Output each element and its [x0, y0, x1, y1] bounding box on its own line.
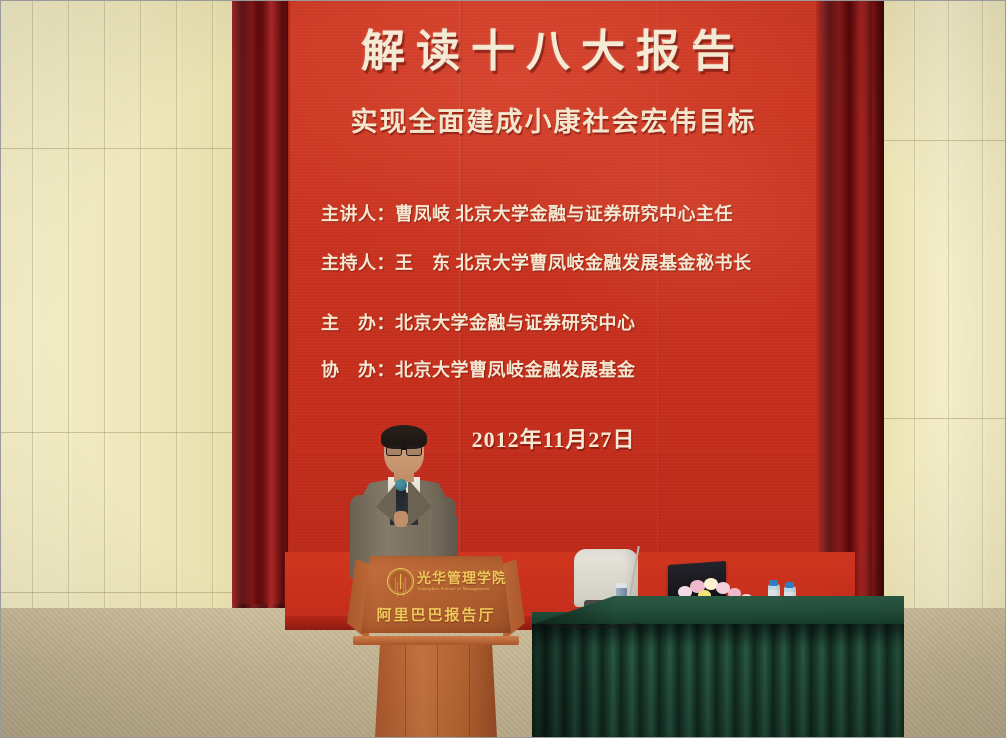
podium-school-name-cn: 光华管理学院: [417, 568, 507, 588]
water-bottle-cap: [785, 582, 794, 588]
banner-subtitle: 实现全面建成小康社会宏伟目标: [285, 100, 822, 139]
lectern-podium: 光华管理学院 Guanghua School of Management 阿里巴…: [347, 553, 525, 738]
microphone-head: [395, 479, 407, 491]
banner-title: 解读十八大报告: [285, 15, 822, 79]
water-bottle-cap: [769, 580, 778, 586]
table-skirt: [532, 624, 904, 738]
podium-hall-name: 阿里巴巴报告厅: [361, 604, 511, 625]
banner-line-coorganizer: 协 办：北京大学曹凤岐金融发展基金: [321, 356, 636, 382]
podium-front-panel: 光华管理学院 Guanghua School of Management 阿里巴…: [361, 556, 511, 633]
eyeglasses-icon: [386, 445, 422, 454]
podium-school-name-en: Guanghua School of Management: [418, 586, 490, 591]
thermos-cap: [616, 583, 627, 588]
cable: [540, 612, 640, 628]
university-seal-icon: [387, 568, 414, 595]
banner-line-speaker: 主讲人：曹凤岐 北京大学金融与证券研究中心主任: [321, 200, 733, 226]
banner-line-organizer: 主 办：北京大学金融与证券研究中心: [321, 309, 636, 335]
banner-line-host: 主持人：王 东 北京大学曹凤岐金融发展基金秘书长: [321, 249, 752, 275]
podium-rail: [353, 636, 519, 645]
podium-body: [375, 645, 497, 738]
speaker-hand: [394, 511, 408, 527]
photo-scene: 解读十八大报告 实现全面建成小康社会宏伟目标 主讲人：曹凤岐 北京大学金融与证券…: [0, 0, 1006, 738]
curtain-left: [232, 0, 288, 664]
